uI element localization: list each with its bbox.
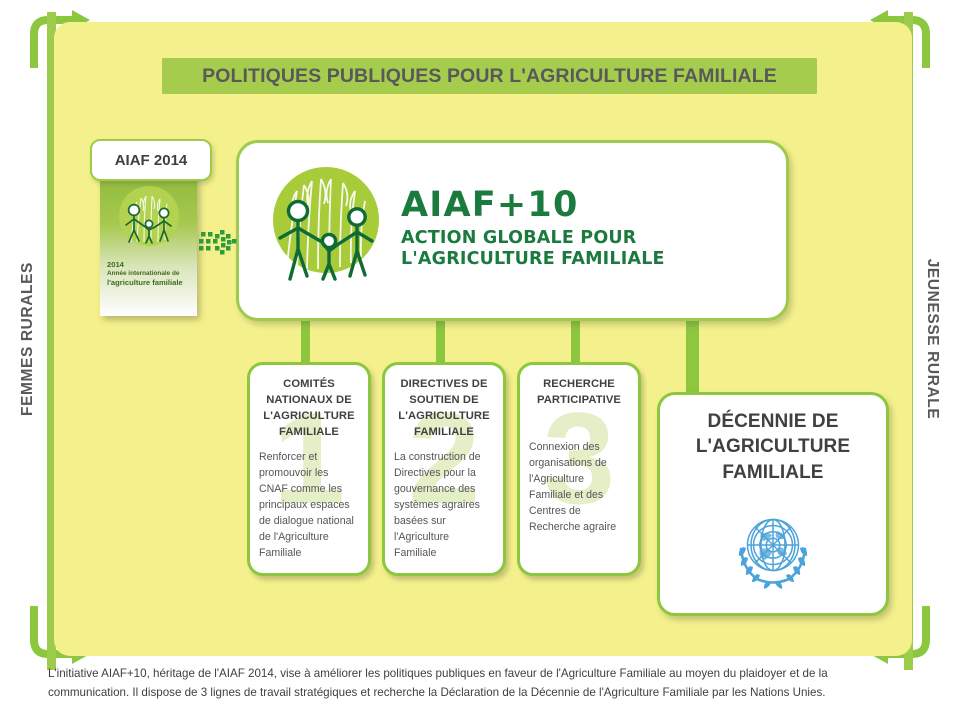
strategy-box-2: 2 DIRECTIVES DE SOUTIEN DE L'AGRICULTURE… xyxy=(382,362,506,576)
united-nations-emblem xyxy=(660,507,886,591)
page-title: POLITIQUES PUBLIQUES POUR L'AGRICULTURE … xyxy=(202,65,777,88)
poster-line-3: l'agriculture familiale xyxy=(107,278,192,288)
poster-year: 2014 xyxy=(107,260,192,270)
title-banner: POLITIQUES PUBLIQUES POUR L'AGRICULTURE … xyxy=(162,58,817,94)
strategy-box-3-heading: RECHERCHE PARTICIPATIVE xyxy=(529,377,629,409)
footer-caption-line-2: communication. Il dispose de 3 lignes de… xyxy=(48,684,924,703)
aiaf-plus-10-wordmark: AIAF+10 ACTION GLOBALE POUR L'AGRICULTUR… xyxy=(401,188,665,269)
strategy-box-1: 1 COMITÉS NATIONAUX DE L'AGRICULTURE FAM… xyxy=(247,362,371,576)
strategy-box-2-heading: DIRECTIVES DE SOUTIEN DE L'AGRICULTURE F… xyxy=(394,377,494,441)
strategy-box-3: 3 RECHERCHE PARTICIPATIVE Connexion des … xyxy=(517,362,641,576)
side-label-jeunesse-rurale: JEUNESSE RURALE xyxy=(923,239,941,439)
dotted-green-arrow xyxy=(199,226,239,265)
footer-caption: L'initiative AIAF+10, héritage de l'AIAF… xyxy=(48,665,924,703)
aiaf-2014-chip-label: AIAF 2014 xyxy=(115,152,188,169)
infographic-stage: FEMMES RURALES JEUNESSE RURALE POLITIQUE… xyxy=(0,0,960,720)
poster-line-2: Année internationale de xyxy=(107,270,192,278)
decade-box-heading: DÉCENNIE DE L'AGRICULTURE FAMILIALE xyxy=(660,395,886,485)
footer-caption-line-1: L'initiative AIAF+10, héritage de l'AIAF… xyxy=(48,665,924,684)
side-label-femmes-rurales: FEMMES RURALES xyxy=(19,239,37,439)
strategy-box-2-body: La construction de Directives pour la go… xyxy=(394,449,494,562)
aiaf-plus-10-logo: AIAF+10 ACTION GLOBALE POUR L'AGRICULTUR… xyxy=(269,165,665,292)
decade-box: DÉCENNIE DE L'AGRICULTURE FAMILIALE xyxy=(657,392,889,616)
logo-title: AIAF+10 xyxy=(401,188,665,223)
logo-subtitle-line-1: ACTION GLOBALE POUR xyxy=(401,228,665,249)
aiaf-2014-chip: AIAF 2014 xyxy=(90,139,212,181)
aiaf-2014-poster: 2014 Année internationale de l'agricultu… xyxy=(100,168,197,316)
aiaf-plus-10-circle-logo xyxy=(269,165,387,292)
strategy-box-1-body: Renforcer et promouvoir les CNAF comme l… xyxy=(259,449,359,562)
strategy-box-1-heading: COMITÉS NATIONAUX DE L'AGRICULTURE FAMIL… xyxy=(259,377,359,441)
strategy-box-3-body: Connexion des organisations de l'Agricul… xyxy=(529,439,629,536)
logo-subtitle-line-2: L'AGRICULTURE FAMILIALE xyxy=(401,249,665,270)
family-farming-circle-emblem xyxy=(117,184,181,253)
poster-caption: 2014 Année internationale de l'agricultu… xyxy=(107,260,192,288)
aiaf-plus-10-card: AIAF+10 ACTION GLOBALE POUR L'AGRICULTUR… xyxy=(236,140,789,321)
